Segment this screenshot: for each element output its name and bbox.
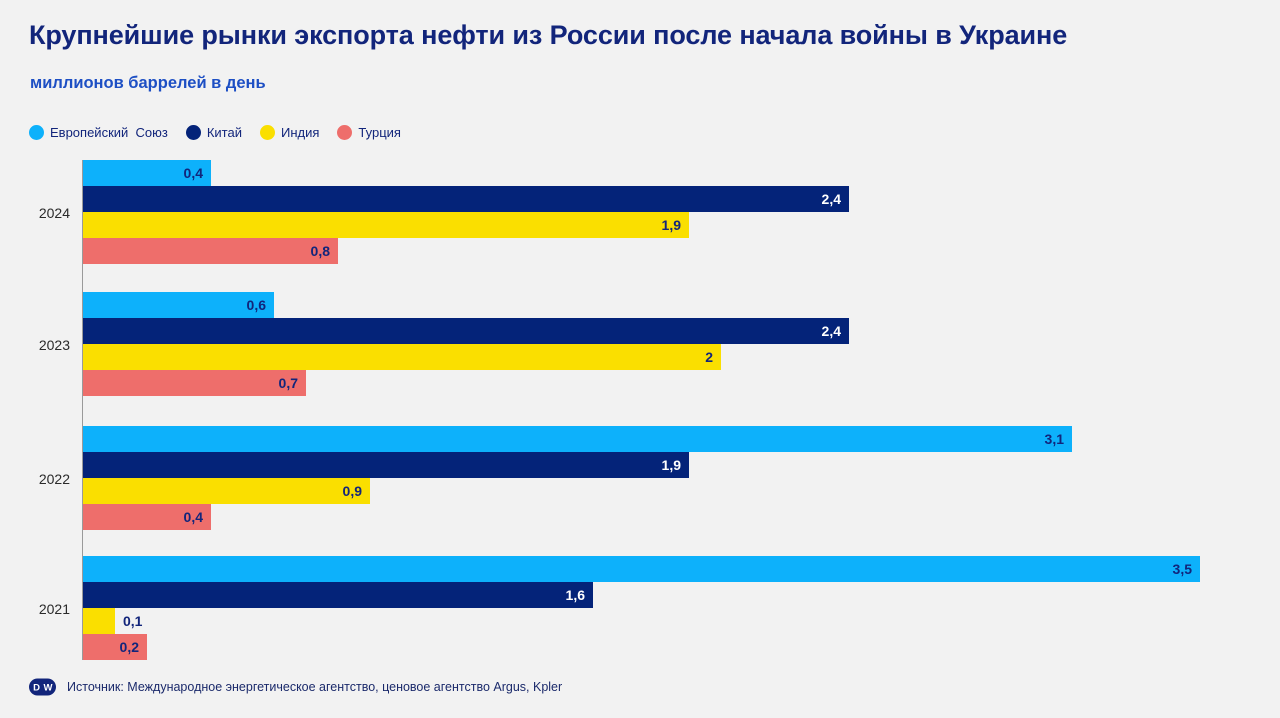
legend-item-china[interactable]: Китай <box>186 125 242 140</box>
page-title: Крупнейшие рынки экспорта нефти из Росси… <box>29 20 1067 51</box>
year-axis-label: 2022 <box>0 471 70 487</box>
bar-value-label: 0,4 <box>83 504 203 530</box>
bar-value-label: 0,2 <box>83 634 139 660</box>
legend-swatch-icon <box>29 125 44 140</box>
legend-item-india[interactable]: Индия <box>260 125 319 140</box>
chart-legend: Европейский СоюзКитайИндияТурция <box>29 123 401 141</box>
bar-group-2023: 20230,62,420,7 <box>0 292 1280 397</box>
bar-value-label: 3,5 <box>83 556 1192 582</box>
bar-india[interactable] <box>83 608 115 634</box>
legend-label: Турция <box>358 126 401 139</box>
legend-label: Индия <box>281 126 319 139</box>
bar-value-label: 0,6 <box>83 292 266 318</box>
legend-swatch-icon <box>260 125 275 140</box>
bar-value-label: 1,9 <box>83 452 681 478</box>
bar-group-2021: 20213,51,60,10,2 <box>0 556 1280 661</box>
bar-value-label: 1,9 <box>83 212 681 238</box>
year-axis-label: 2023 <box>0 337 70 353</box>
chart-container: Крупнейшие рынки экспорта нефти из Росси… <box>0 0 1280 718</box>
bar-group-2024: 20240,42,41,90,8 <box>0 160 1280 265</box>
source-text: Источник: Международное энергетическое а… <box>67 680 562 694</box>
year-axis-label: 2024 <box>0 205 70 221</box>
legend-swatch-icon <box>186 125 201 140</box>
legend-swatch-icon <box>337 125 352 140</box>
bar-group-2022: 20223,11,90,90,4 <box>0 426 1280 531</box>
bar-value-label: 0,7 <box>83 370 298 396</box>
bar-value-label: 0,8 <box>83 238 330 264</box>
plot-area: 20240,42,41,90,820230,62,420,720223,11,9… <box>0 158 1280 663</box>
svg-text:W: W <box>44 683 53 694</box>
bar-value-label: 0,9 <box>83 478 362 504</box>
legend-label: Европейский Союз <box>50 126 168 139</box>
legend-item-turkey[interactable]: Турция <box>337 125 401 140</box>
svg-text:D: D <box>33 683 40 694</box>
bar-value-label: 2,4 <box>83 318 841 344</box>
bar-value-label: 3,1 <box>83 426 1064 452</box>
bar-value-label: 2 <box>83 344 713 370</box>
bar-value-label: 0,1 <box>123 608 142 634</box>
bar-value-label: 0,4 <box>83 160 203 186</box>
bar-value-label: 2,4 <box>83 186 841 212</box>
chart-subtitle: миллионов баррелей в день <box>30 74 266 93</box>
chart-footer: D W Источник: Международное энергетическ… <box>29 678 562 696</box>
dw-logo: D W <box>29 678 56 696</box>
year-axis-label: 2021 <box>0 601 70 617</box>
legend-label: Китай <box>207 126 242 139</box>
legend-item-eu[interactable]: Европейский Союз <box>29 125 168 140</box>
bar-value-label: 1,6 <box>83 582 585 608</box>
